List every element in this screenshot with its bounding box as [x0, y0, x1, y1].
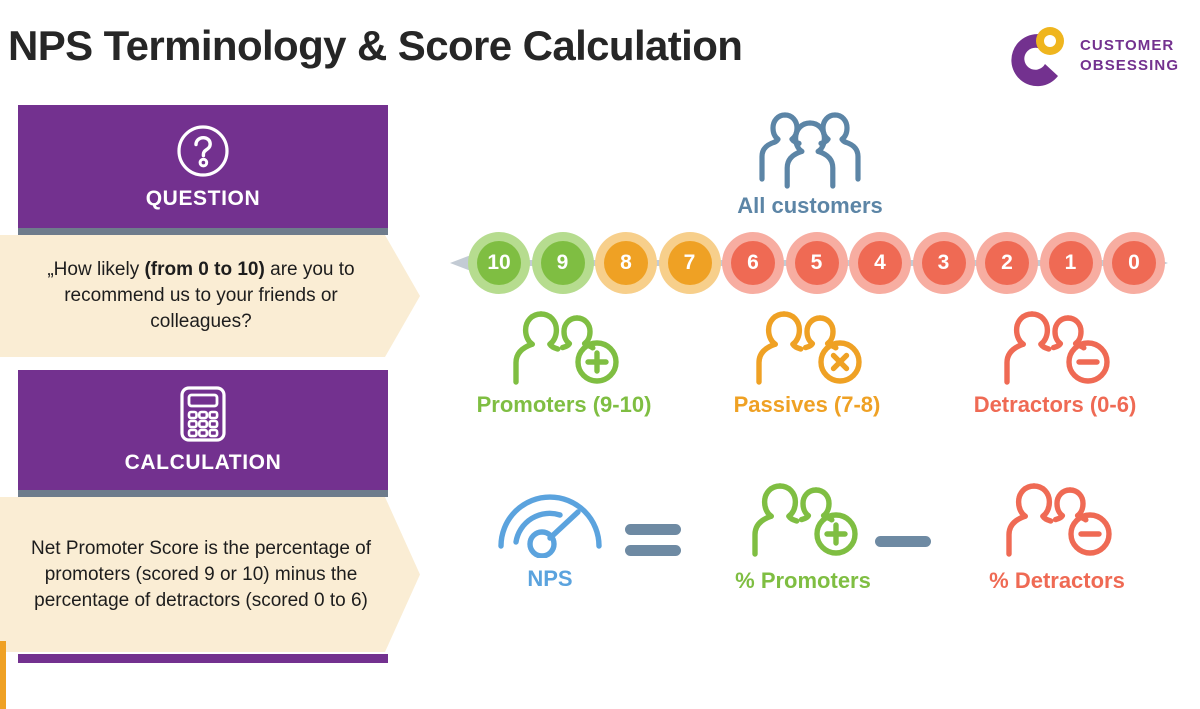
scale-point-value: 2: [985, 241, 1029, 285]
scale-point-8[interactable]: 8: [595, 232, 657, 294]
question-text: „How likely (from 0 to 10) are you to re…: [21, 257, 399, 335]
scale-point-value: 7: [668, 241, 712, 285]
scale-point-6[interactable]: 6: [722, 232, 784, 294]
segment-promoters: Promoters (9-10): [434, 308, 694, 418]
score-scale: 109876543210: [440, 232, 1180, 294]
left-orange-tab: [0, 641, 6, 709]
scale-point-10[interactable]: 10: [468, 232, 530, 294]
two-people-plus-icon: [688, 480, 918, 560]
nps-formula: NPS: [420, 480, 1200, 630]
scale-point-2[interactable]: 2: [976, 232, 1038, 294]
scale-point-value: 4: [858, 241, 902, 285]
calculator-icon: [178, 385, 228, 443]
calculation-text: Net Promoter Score is the percentage of …: [21, 536, 399, 614]
two-people-cross-icon: [692, 308, 922, 388]
scale-point-5[interactable]: 5: [786, 232, 848, 294]
infographic-page: NPS Terminology & Score Calculation CUST…: [0, 0, 1200, 668]
scale-point-7[interactable]: 7: [659, 232, 721, 294]
scale-point-4[interactable]: 4: [849, 232, 911, 294]
question-card: QUESTION: [18, 105, 388, 228]
calculation-banner: Net Promoter Score is the percentage of …: [0, 497, 420, 652]
right-column: All customers 109876543210: [420, 0, 1200, 668]
question-text-prefix: „How likely: [47, 259, 144, 280]
all-customers-group: All customers: [720, 103, 900, 219]
question-card-underbar: [18, 228, 388, 235]
scale-point-3[interactable]: 3: [913, 232, 975, 294]
scale-point-0[interactable]: 0: [1103, 232, 1165, 294]
segment-detractors-label: Detractors (0-6): [920, 392, 1190, 418]
formula-nps: NPS: [460, 480, 640, 592]
question-text-bold: (from 0 to 10): [144, 259, 264, 280]
gauge-icon: [460, 480, 640, 558]
scale-point-value: 3: [922, 241, 966, 285]
segment-passives: Passives (7-8): [692, 308, 922, 418]
calculation-card: CALCULATION: [18, 370, 388, 490]
scale-point-value: 9: [541, 241, 585, 285]
scale-point-value: 6: [731, 241, 775, 285]
question-mark-circle-icon: [175, 123, 231, 179]
segment-promoters-label: Promoters (9-10): [434, 392, 694, 418]
minus-sign-icon: [875, 536, 931, 547]
two-people-minus-icon: [932, 480, 1182, 560]
left-column: QUESTION „How likely (from 0 to 10) are …: [0, 105, 420, 668]
equals-sign-icon: [625, 524, 681, 556]
scale-point-value: 0: [1112, 241, 1156, 285]
bottom-accent-bar: [18, 654, 388, 663]
formula-detractors: % Detractors: [932, 480, 1182, 594]
segment-passives-label: Passives (7-8): [692, 392, 922, 418]
segment-detractors: Detractors (0-6): [920, 308, 1190, 418]
scale-point-1[interactable]: 1: [1040, 232, 1102, 294]
scale-point-value: 5: [795, 241, 839, 285]
formula-nps-label: NPS: [460, 566, 640, 592]
scale-point-value: 1: [1049, 241, 1093, 285]
calculation-card-underbar: [18, 490, 388, 497]
scale-point-9[interactable]: 9: [532, 232, 594, 294]
calculation-caption: CALCULATION: [125, 451, 282, 475]
three-people-icon: [720, 103, 900, 191]
all-customers-label: All customers: [720, 193, 900, 219]
scale-point-value: 8: [604, 241, 648, 285]
two-people-minus-icon: [920, 308, 1190, 388]
question-banner: „How likely (from 0 to 10) are you to re…: [0, 235, 420, 357]
formula-promoters-label: % Promoters: [688, 568, 918, 594]
two-people-plus-icon: [434, 308, 694, 388]
question-caption: QUESTION: [146, 187, 260, 211]
scale-point-value: 10: [477, 241, 521, 285]
formula-detractors-label: % Detractors: [932, 568, 1182, 594]
